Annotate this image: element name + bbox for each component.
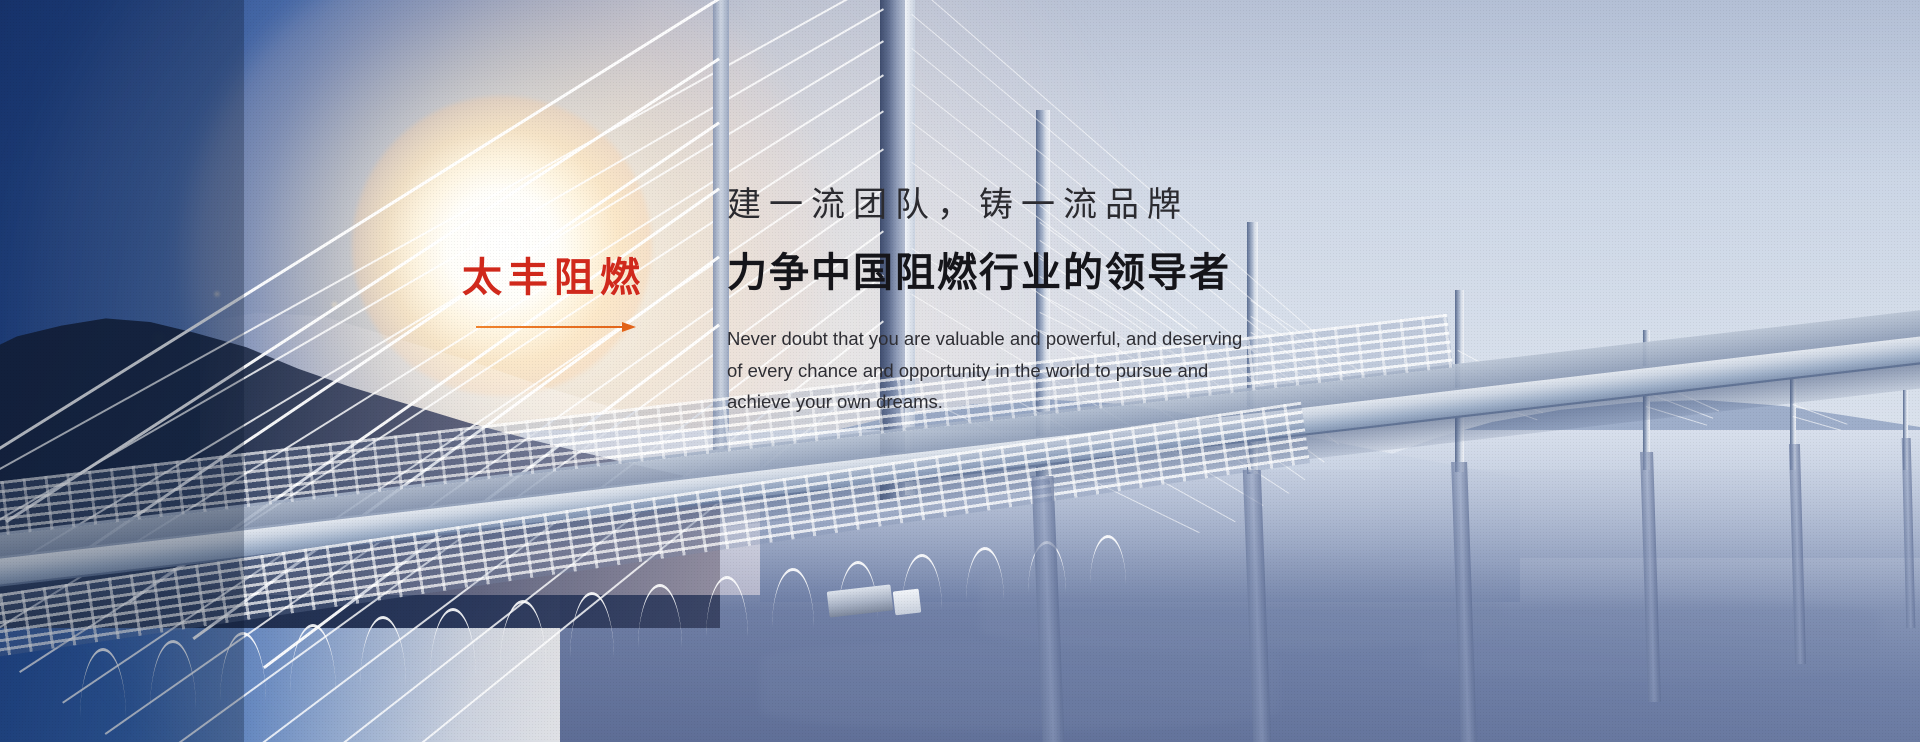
arrow-head	[622, 322, 636, 332]
headline-block: 建一流团队，铸一流品牌 力争中国阻燃行业的领导者 Never doubt tha…	[727, 186, 1347, 418]
arrow-shaft	[476, 326, 624, 328]
brand-logo-text: 太丰阻燃	[462, 258, 692, 298]
subcopy-line-1: Never doubt that you are valuable and po…	[727, 323, 1307, 355]
subcopy-line-2: of every chance and opportunity in the w…	[727, 355, 1307, 387]
hero-banner: 太丰阻燃 建一流团队，铸一流品牌 力争中国阻燃行业的领导者 Never doub…	[0, 0, 1920, 742]
headline-line-1: 建一流团队，铸一流品牌	[727, 186, 1347, 227]
brand-logo[interactable]: 太丰阻燃	[462, 258, 692, 332]
arrow-right-icon	[476, 322, 636, 332]
subcopy-block: Never doubt that you are valuable and po…	[727, 323, 1307, 418]
headline-line-2: 力争中国阻燃行业的领导者	[727, 249, 1347, 297]
subcopy-line-3: achieve your own dreams.	[727, 386, 1307, 418]
banner-content: 太丰阻燃 建一流团队，铸一流品牌 力争中国阻燃行业的领导者 Never doub…	[0, 0, 1920, 742]
